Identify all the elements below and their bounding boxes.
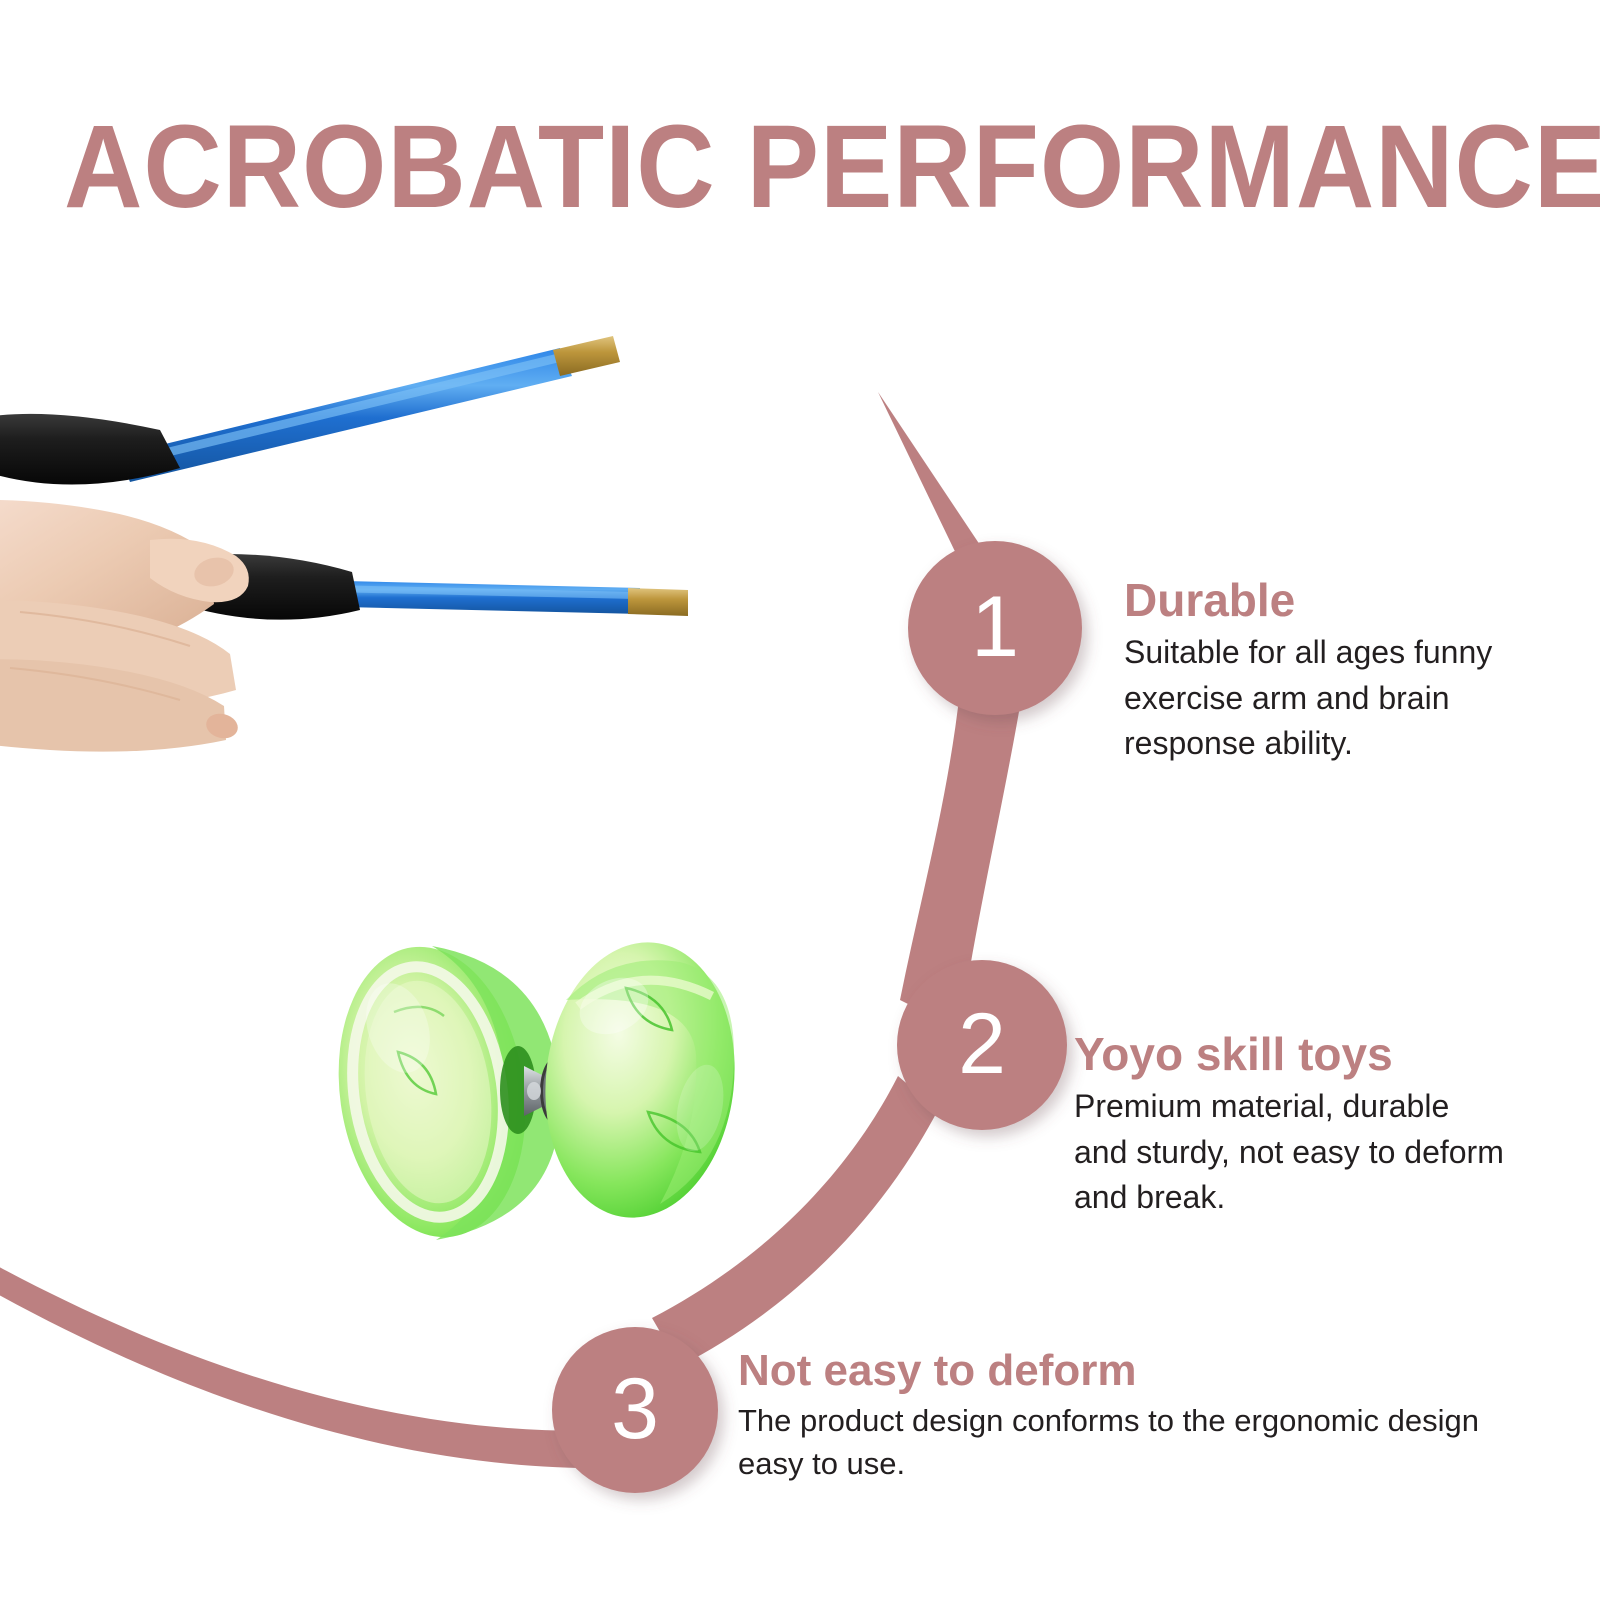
step-number-3: 3	[575, 1366, 695, 1452]
step-text-2: Yoyo skill toys Premium material, durabl…	[1074, 1030, 1504, 1221]
step-number-2: 2	[922, 1001, 1042, 1087]
ribbon-segment-3-to-left	[0, 1262, 622, 1468]
step-heading-1: Durable	[1124, 576, 1524, 624]
step-text-3: Not easy to deform The product design co…	[738, 1348, 1498, 1486]
step-body-1: Suitable for all ages funny exercise arm…	[1124, 630, 1524, 766]
step-heading-2: Yoyo skill toys	[1074, 1030, 1504, 1078]
step-heading-3: Not easy to deform	[738, 1348, 1498, 1394]
step-body-2: Premium material, durable and sturdy, no…	[1074, 1084, 1504, 1220]
step-number-1: 1	[935, 584, 1055, 670]
ribbon-segment-2-to-3	[652, 1076, 938, 1366]
step-text-1: Durable Suitable for all ages funny exer…	[1124, 576, 1524, 767]
infographic-page: ACROBATIC PERFORMANCE	[0, 0, 1600, 1600]
ribbon-segment-top-tail	[878, 392, 990, 566]
step-body-3: The product design conforms to the ergon…	[738, 1400, 1498, 1486]
